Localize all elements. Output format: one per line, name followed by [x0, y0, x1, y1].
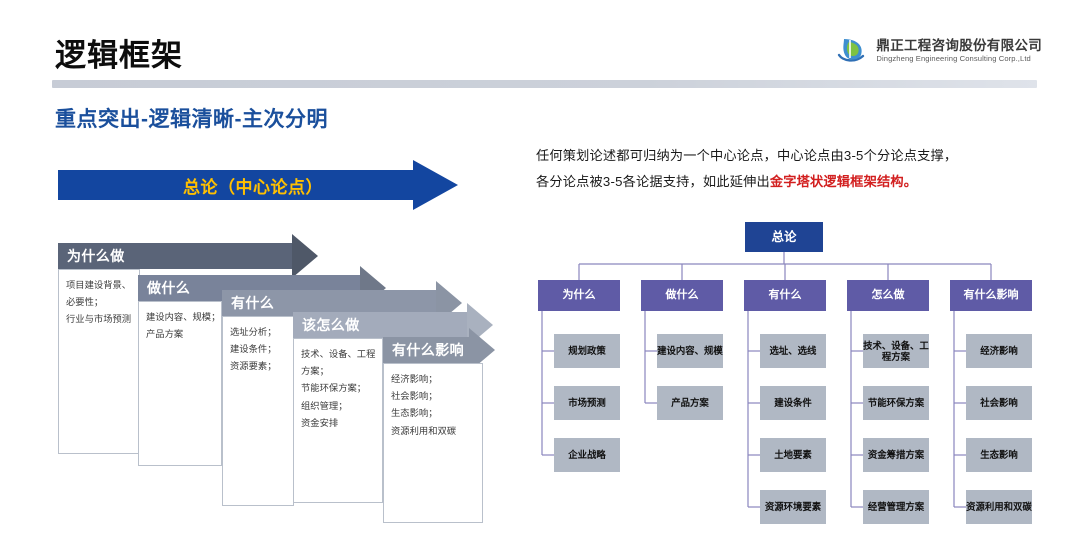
- cascade-body-1: 项目建设背景、必要性；行业与市场预测: [58, 269, 140, 454]
- cascade-item: 必要性；: [66, 294, 133, 311]
- tree-leaf-node[interactable]: 产品方案: [657, 386, 723, 420]
- tree-leaf-node[interactable]: 资源环境要素: [760, 490, 826, 524]
- tree-leaf-node[interactable]: 经济影响: [966, 334, 1032, 368]
- cascade-body-2: 建设内容、规模；产品方案: [138, 301, 222, 466]
- tree-leaf-label: 资金筹措方案: [868, 449, 924, 460]
- tree-leaf-node[interactable]: 建设条件: [760, 386, 826, 420]
- cascade-header-5[interactable]: 有什么影响: [383, 337, 469, 363]
- logo-company-name-en: Dingzheng Engineering Consulting Corp.,L…: [876, 55, 1042, 63]
- cascade-item: 行业与市场预测: [66, 311, 133, 328]
- tree-branch-label: 做什么: [666, 289, 699, 302]
- tree-branch-label: 有什么影响: [964, 289, 1019, 302]
- cascade-item: 节能环保方案；: [301, 380, 376, 397]
- cascade-item: 资源要素；: [230, 358, 287, 375]
- tree-leaf-label: 选址、选线: [770, 345, 817, 356]
- tree-leaf-node[interactable]: 节能环保方案: [863, 386, 929, 420]
- tree-leaf-label: 社会影响: [980, 397, 1018, 408]
- company-logo: 鼎正工程咨询股份有限公司 Dingzheng Engineering Consu…: [835, 34, 1042, 68]
- tree-branch-node-4[interactable]: 怎么做: [847, 280, 929, 311]
- tree-leaf-label: 节能环保方案: [868, 397, 924, 408]
- cascade-item: 资金安排: [301, 415, 376, 432]
- cascade-header-label: 有什么: [231, 293, 274, 313]
- cascade-item: 项目建设背景、: [66, 277, 133, 294]
- logo-company-name-cn: 鼎正工程咨询股份有限公司: [876, 39, 1042, 53]
- cascade-body-4: 技术、设备、工程方案；节能环保方案；组织管理；资金安排: [293, 338, 383, 503]
- tree-leaf-node[interactable]: 选址、选线: [760, 334, 826, 368]
- cascade-item: 产品方案: [146, 326, 215, 343]
- tree-root-label: 总论: [771, 230, 796, 245]
- tree-leaf-label: 建设条件: [774, 397, 812, 408]
- cascade-diagram: 为什么做项目建设背景、必要性；行业与市场预测做什么建设内容、规模；产品方案有什么…: [0, 0, 520, 520]
- description-paragraph: 任何策划论述都可归纳为一个中心论点，中心论点由3-5个分论点支撑， 各分论点被3…: [536, 143, 1044, 196]
- tree-branch-label: 为什么: [563, 289, 596, 302]
- cascade-header-label: 有什么影响: [392, 340, 464, 360]
- cascade-item: 选址分析；: [230, 324, 287, 341]
- tree-leaf-node[interactable]: 经营管理方案: [863, 490, 929, 524]
- paragraph-highlight: 金字塔状逻辑框架结构。: [770, 174, 917, 189]
- tree-leaf-node[interactable]: 土地要素: [760, 438, 826, 472]
- tree-branch-node-3[interactable]: 有什么: [744, 280, 826, 311]
- leaf-logo-icon: [835, 34, 869, 68]
- tree-root-node[interactable]: 总论: [745, 222, 823, 252]
- cascade-item: 建设内容、规模；: [146, 309, 215, 326]
- tree-leaf-label: 资源利用和双碳: [966, 501, 1032, 512]
- cascade-item: 资源利用和双碳: [391, 423, 476, 440]
- cascade-header-label: 为什么做: [67, 246, 125, 266]
- tree-leaf-node[interactable]: 生态影响: [966, 438, 1032, 472]
- cascade-body-5: 经济影响；社会影响；生态影响；资源利用和双碳: [383, 363, 483, 523]
- cascade-header-label: 该怎么做: [302, 315, 360, 335]
- tree-leaf-label: 产品方案: [671, 397, 709, 408]
- tree-branch-node-5[interactable]: 有什么影响: [950, 280, 1032, 311]
- tree-leaf-node[interactable]: 技术、设备、工程方案: [863, 334, 929, 368]
- tree-branch-label: 有什么: [769, 289, 802, 302]
- slide-canvas: 逻辑框架 鼎正工程咨询股份有限公司 Dingzheng Engineering …: [0, 0, 1080, 560]
- tree-leaf-label: 建设内容、规模: [657, 345, 723, 356]
- cascade-item: 生态影响；: [391, 405, 476, 422]
- tree-leaf-label: 规划政策: [568, 345, 606, 356]
- tree-leaf-node[interactable]: 建设内容、规模: [657, 334, 723, 368]
- cascade-item: 建设条件；: [230, 341, 287, 358]
- tree-leaf-label: 土地要素: [774, 449, 812, 460]
- tree-leaf-node[interactable]: 资源利用和双碳: [966, 490, 1032, 524]
- paragraph-line-2-plain: 各分论点被3-5各论据支持，如此延伸出: [536, 174, 770, 189]
- tree-leaf-label: 市场预测: [568, 397, 606, 408]
- pyramid-tree-diagram: 总论为什么规划政策市场预测企业战略做什么建设内容、规模产品方案有什么选址、选线建…: [536, 222, 1056, 552]
- cascade-header-label: 做什么: [147, 278, 190, 298]
- tree-leaf-label: 技术、设备、工程方案: [863, 340, 929, 363]
- tree-leaf-label: 生态影响: [980, 449, 1018, 460]
- cascade-item: 社会影响；: [391, 388, 476, 405]
- tree-leaf-label: 经济影响: [980, 345, 1018, 356]
- tree-leaf-node[interactable]: 企业战略: [554, 438, 620, 472]
- tree-branch-node-1[interactable]: 为什么: [538, 280, 620, 311]
- cascade-item: 技术、设备、工程方案；: [301, 346, 376, 380]
- tree-leaf-node[interactable]: 资金筹措方案: [863, 438, 929, 472]
- tree-leaf-node[interactable]: 社会影响: [966, 386, 1032, 420]
- tree-branch-node-2[interactable]: 做什么: [641, 280, 723, 311]
- cascade-item: 经济影响；: [391, 371, 476, 388]
- tree-leaf-label: 资源环境要素: [765, 501, 821, 512]
- tree-leaf-node[interactable]: 规划政策: [554, 334, 620, 368]
- tree-branch-label: 怎么做: [872, 289, 905, 302]
- paragraph-line-1: 任何策划论述都可归纳为一个中心论点，中心论点由3-5个分论点支撑，: [536, 148, 957, 163]
- cascade-item: 组织管理；: [301, 398, 376, 415]
- cascade-body-3: 选址分析；建设条件；资源要素；: [222, 316, 294, 506]
- tree-leaf-node[interactable]: 市场预测: [554, 386, 620, 420]
- tree-leaf-label: 企业战略: [568, 449, 606, 460]
- tree-leaf-label: 经营管理方案: [868, 501, 924, 512]
